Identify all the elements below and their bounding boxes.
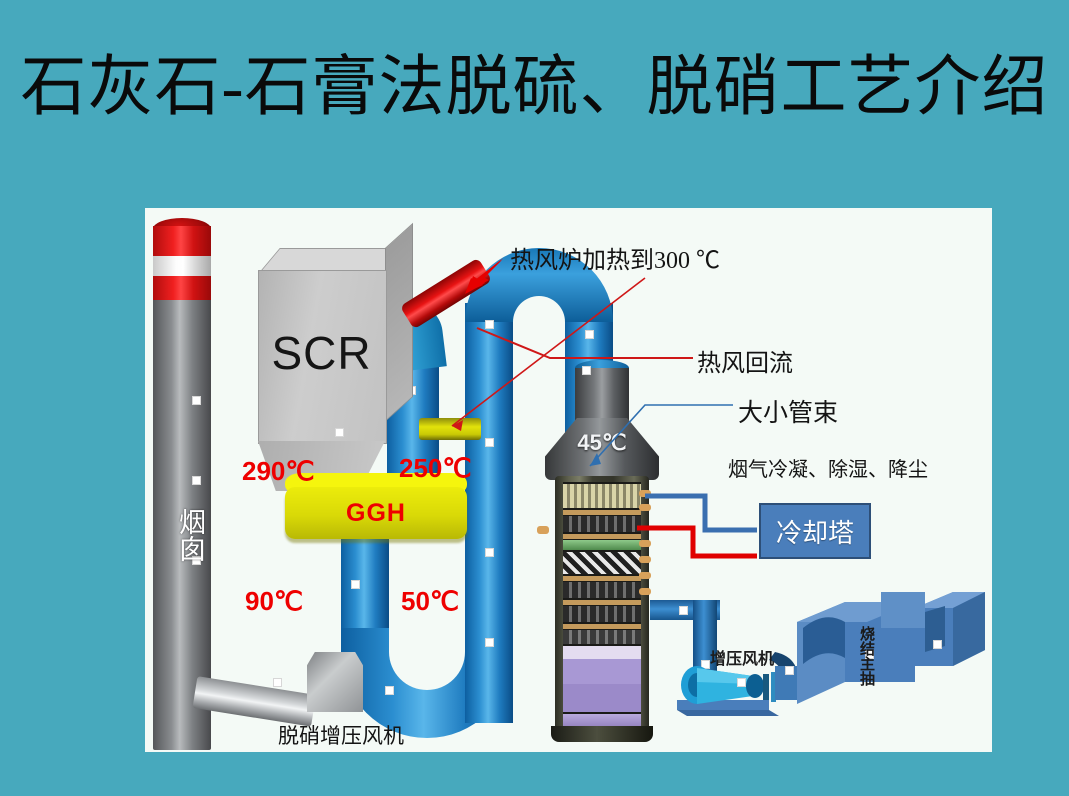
temp-label-ggh-cold-out: 50℃	[401, 586, 459, 617]
label-booster-fan: 增压风机	[710, 645, 774, 669]
label-sintering-main-exhaust: 烧结主抽	[857, 626, 874, 686]
process-diagram-panel: 烟囱 SCR	[145, 208, 992, 752]
page-title: 石灰石-石膏法脱硫、脱硝工艺介绍	[0, 52, 1069, 124]
temp-label-scr-inlet: 290℃	[242, 456, 315, 487]
callout-hot-air-return: 热风回流	[697, 343, 793, 378]
temp-label-ggh-cold-in: 90℃	[245, 586, 303, 617]
label-denitration-booster-fan: 脱硝增压风机	[278, 720, 404, 750]
temp-label-scr-outlet: 250℃	[399, 453, 472, 484]
callout-tube-bundle: 大小管束	[738, 393, 838, 429]
slide-stage: 石灰石-石膏法脱硫、脱硝工艺介绍 烟囱	[0, 0, 1069, 796]
callout-heater: 热风炉加热到300 ℃	[510, 240, 720, 275]
callout-flue-gas-treatment: 烟气冷凝、除湿、降尘	[728, 453, 928, 482]
